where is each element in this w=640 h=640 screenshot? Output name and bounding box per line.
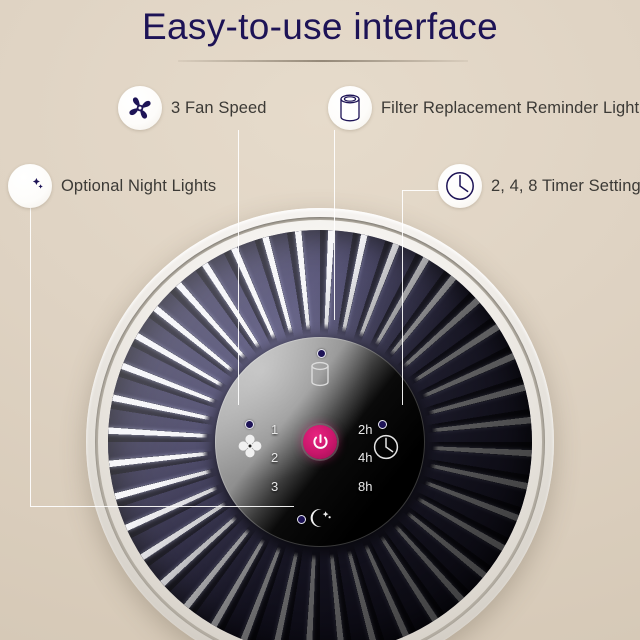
control-panel[interactable]: 1 2 3 2h 4h 8h — [215, 337, 425, 547]
connector-line-night-vertical — [30, 208, 31, 506]
air-purifier-device: 1 2 3 2h 4h 8h — [86, 208, 554, 640]
callout-filter-reminder[interactable]: Filter Replacement Reminder Light — [328, 86, 639, 130]
moon-icon — [8, 164, 52, 208]
power-icon — [311, 433, 330, 452]
connector-line-timer-horizontal — [402, 190, 440, 191]
timer-4h[interactable]: 4h — [358, 450, 372, 465]
callout-label: Optional Night Lights — [61, 177, 216, 196]
timer-2h[interactable]: 2h — [358, 422, 372, 437]
clock-icon — [438, 164, 482, 208]
title-divider — [178, 60, 468, 62]
power-button[interactable] — [303, 425, 337, 459]
callout-timer-setting[interactable]: 2, 4, 8 Timer Setting — [438, 164, 640, 208]
timer-8h[interactable]: 8h — [358, 479, 372, 494]
connector-line-timer-vertical — [402, 190, 403, 405]
connector-dot-filter — [317, 349, 326, 358]
filter-cylinder-icon — [328, 86, 372, 130]
connector-line-night-horizontal — [30, 506, 294, 507]
page-title: Easy-to-use interface — [0, 6, 640, 48]
connector-dot-fan — [245, 420, 254, 429]
connector-line-filter — [334, 130, 335, 320]
fan-speed-1[interactable]: 1 — [271, 422, 278, 437]
moon-icon[interactable] — [307, 507, 333, 534]
connector-dot-timer — [378, 420, 387, 429]
fan-speed-3[interactable]: 3 — [271, 479, 278, 494]
connector-dot-night — [297, 515, 306, 524]
callout-label: Filter Replacement Reminder Light — [381, 99, 639, 118]
callout-night-lights[interactable]: Optional Night Lights — [8, 164, 216, 208]
infographic-root: Easy-to-use interface — [0, 0, 640, 640]
fan-icon[interactable] — [237, 433, 263, 464]
connector-line-fan — [238, 130, 239, 405]
fan-icon — [118, 86, 162, 130]
filter-cylinder-icon[interactable] — [309, 361, 331, 392]
clock-icon[interactable] — [372, 433, 400, 466]
fan-speed-2[interactable]: 2 — [271, 450, 278, 465]
callout-fan-speed[interactable]: 3 Fan Speed — [118, 86, 267, 130]
callout-label: 2, 4, 8 Timer Setting — [491, 177, 640, 196]
callout-label: 3 Fan Speed — [171, 99, 267, 118]
